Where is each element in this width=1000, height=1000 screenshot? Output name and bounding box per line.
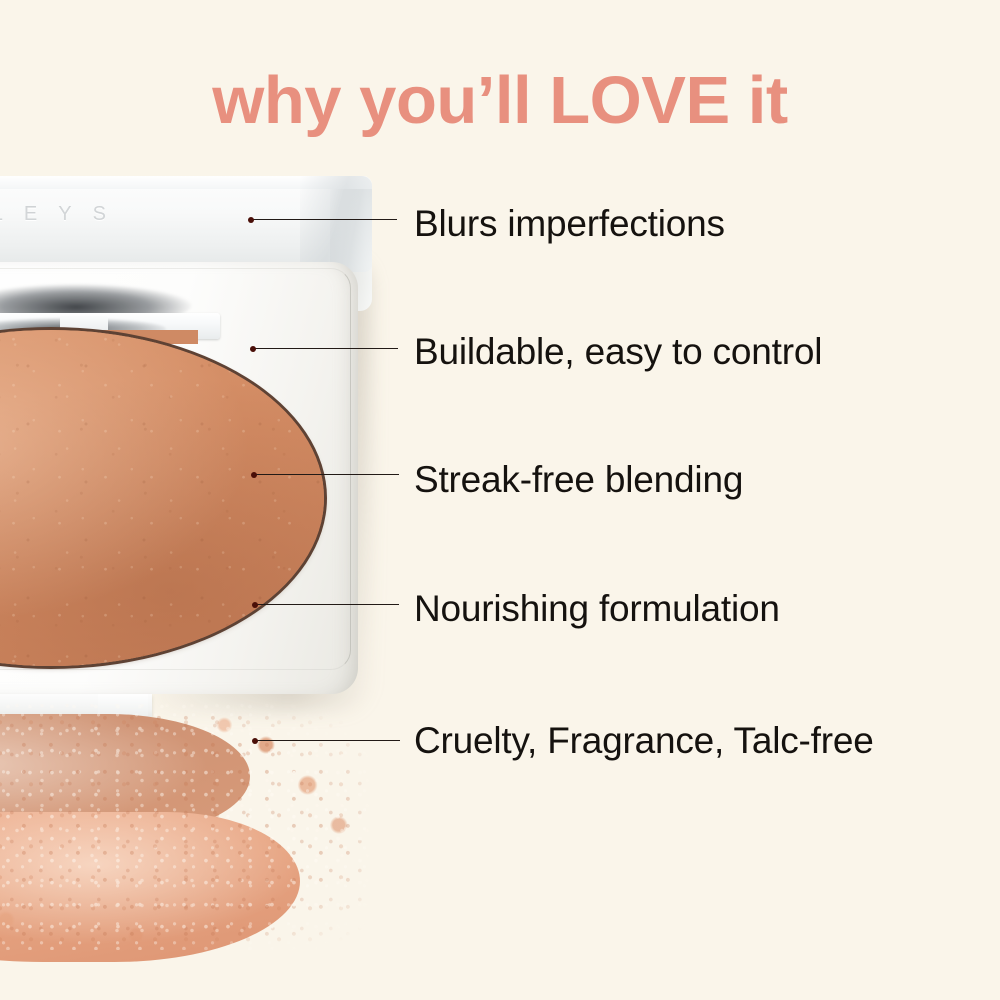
leader-dot-2 — [250, 346, 256, 352]
benefit-label-3: Streak-free blending — [414, 461, 743, 498]
leader-dot-5 — [252, 738, 258, 744]
brand-wordmark: HALEYS — [0, 203, 252, 226]
leader-dot-4 — [252, 602, 258, 608]
leader-line-3 — [254, 474, 399, 475]
benefit-label-2: Buildable, easy to control — [414, 333, 822, 370]
benefit-label-4: Nourishing formulation — [414, 590, 780, 627]
infographic-canvas: HALEYS HALEYS why you’ll LOVE it — [0, 0, 1000, 1000]
powder-shimmer-grain — [0, 700, 370, 950]
blush-pan-texture — [0, 330, 324, 666]
page-title: why you’ll LOVE it — [0, 62, 1000, 139]
benefit-label-1: Blurs imperfections — [414, 205, 725, 242]
blush-pan — [0, 330, 324, 666]
loose-powder-swatch — [0, 700, 370, 950]
leader-line-2 — [253, 348, 398, 349]
leader-dot-1 — [248, 217, 254, 223]
leader-line-5 — [255, 740, 400, 741]
benefit-label-5: Cruelty, Fragrance, Talc-free — [414, 722, 874, 759]
product-photo: HALEYS HALEYS — [0, 0, 400, 1000]
leader-line-4 — [255, 604, 399, 605]
leader-dot-3 — [251, 472, 257, 478]
leader-line-1 — [251, 219, 397, 220]
